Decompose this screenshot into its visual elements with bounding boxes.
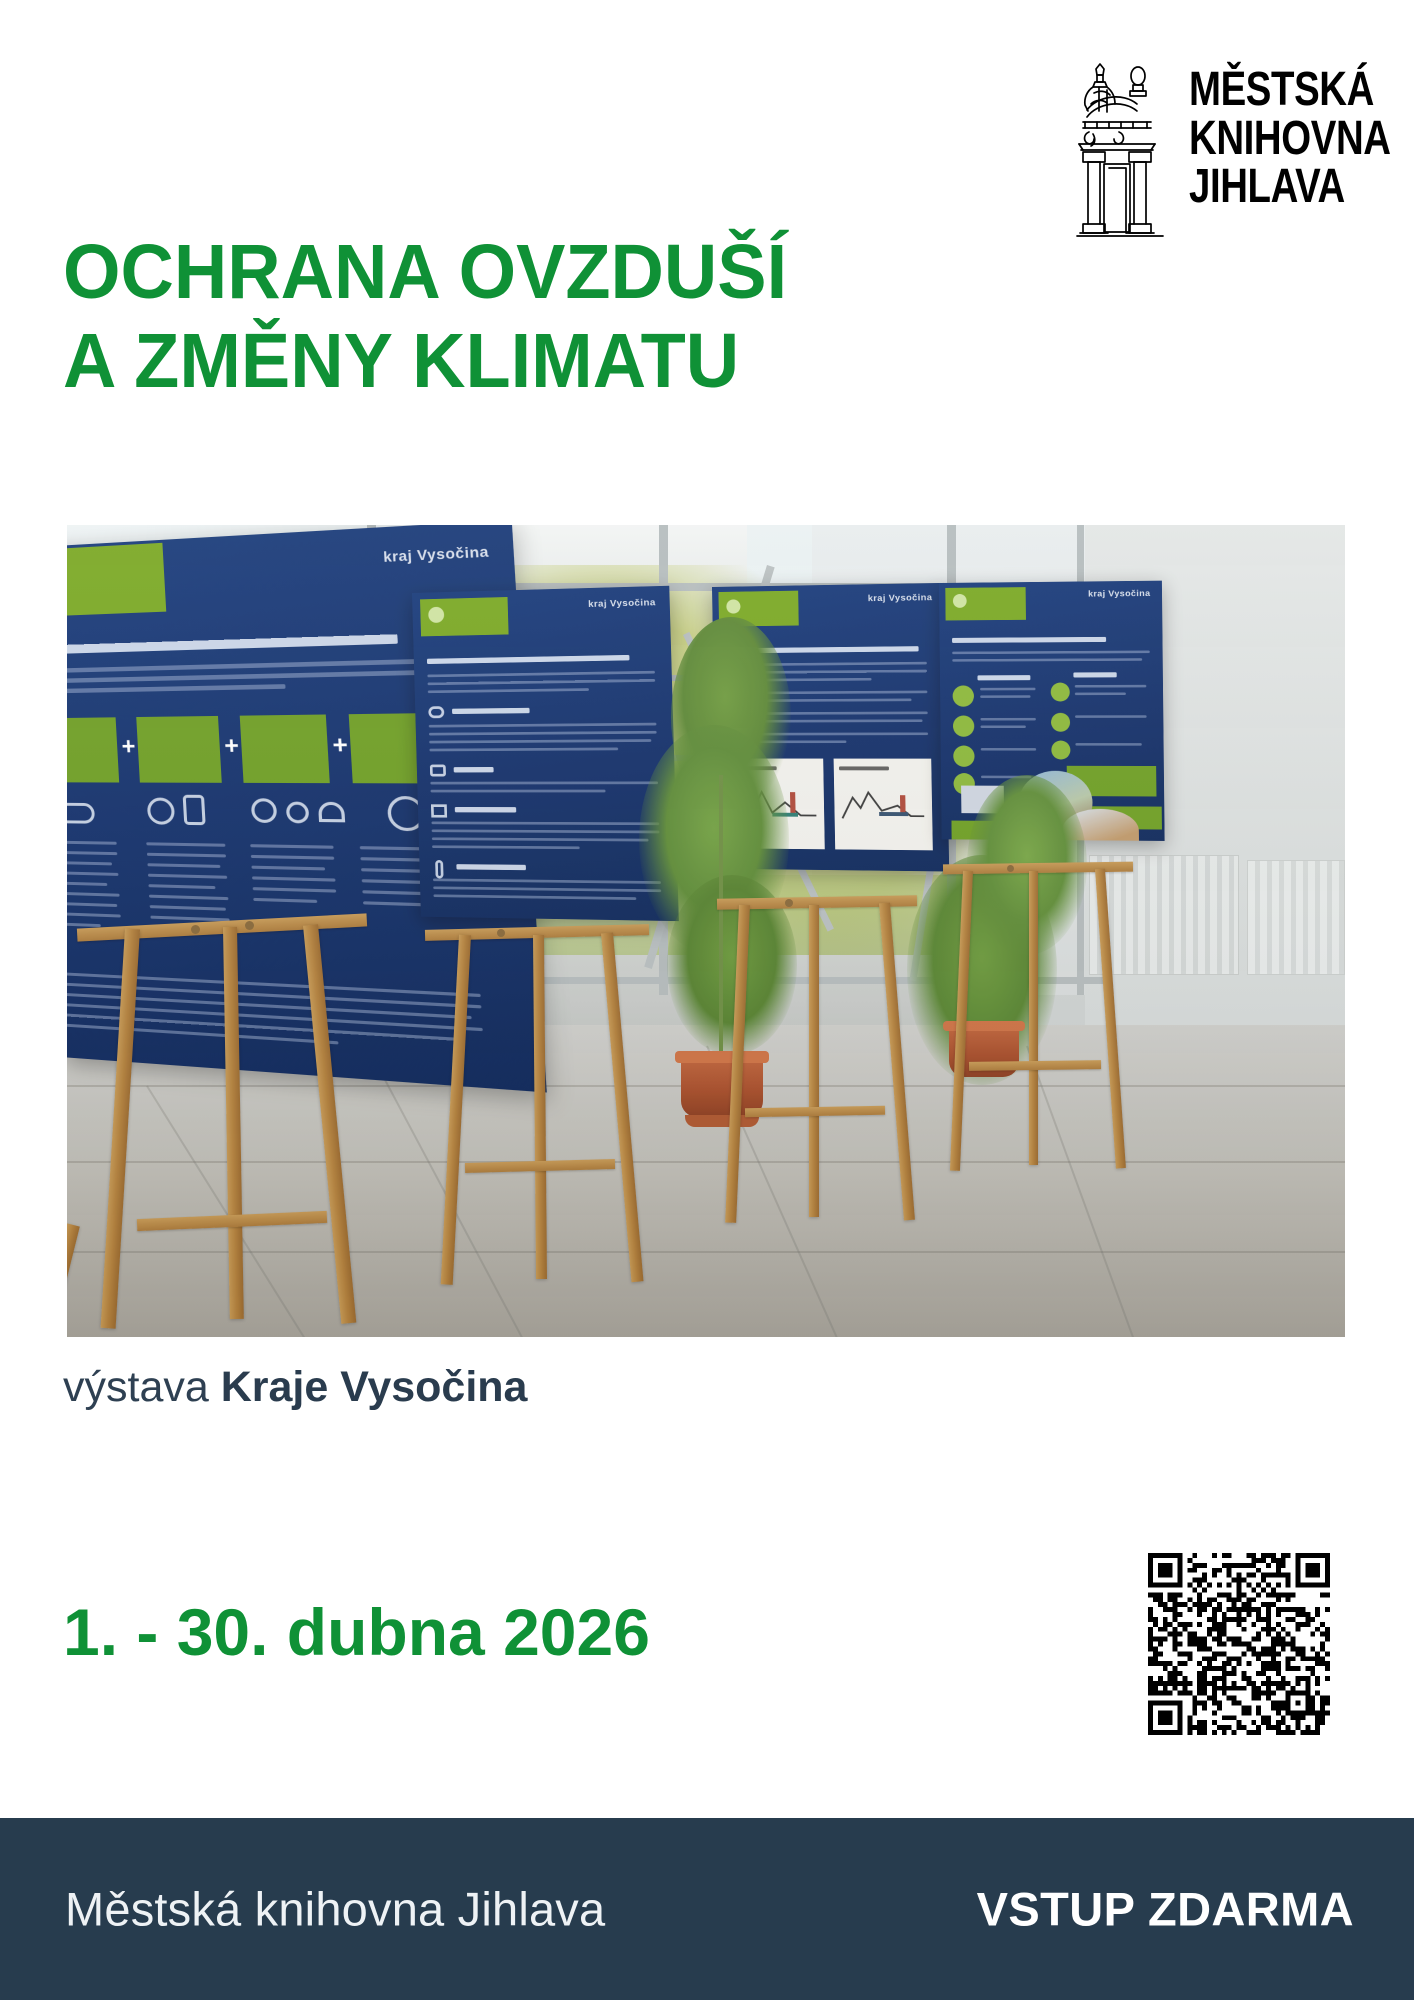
subtitle-organizer: Kraje Vysočina xyxy=(221,1363,528,1411)
poster-footer: Městská knihovna Jihlava VSTUP ZDARMA xyxy=(0,1818,1414,2000)
footer-organization: Městská knihovna Jihlava xyxy=(65,1882,605,1937)
logo-line-3: JIHLAVA xyxy=(1189,163,1391,211)
logo-line-1: MĚSTSKÁ xyxy=(1189,66,1391,114)
page-title: OCHRANA OVZDUŠÍ A ZMĚNY KLIMATU xyxy=(63,228,1113,407)
exhibition-photo: kraj Vysočina + + + xyxy=(67,525,1345,1337)
event-date: 1. - 30. dubna 2026 xyxy=(63,1596,650,1669)
qr-code[interactable] xyxy=(1148,1553,1330,1735)
footer-admission: VSTUP ZDARMA xyxy=(977,1882,1354,1937)
qr-canvas[interactable] xyxy=(1148,1553,1330,1735)
title-line-1: OCHRANA OVZDUŠÍ xyxy=(63,228,1071,317)
title-line-2: A ZMĚNY KLIMATU xyxy=(63,317,1071,406)
subtitle-prefix: výstava xyxy=(63,1363,221,1411)
logo-line-2: KNIHOVNA xyxy=(1189,115,1391,163)
exhibition-panel-2: kraj Vysočina xyxy=(412,586,679,921)
exhibition-subtitle: výstava Kraje Vysočina xyxy=(63,1362,527,1414)
library-logo: MĚSTSKÁ KNIHOVNA JIHLAVA xyxy=(1063,52,1363,242)
logo-wordmark: MĚSTSKÁ KNIHOVNA JIHLAVA xyxy=(1189,52,1414,211)
library-portal-illustration xyxy=(1063,52,1175,238)
